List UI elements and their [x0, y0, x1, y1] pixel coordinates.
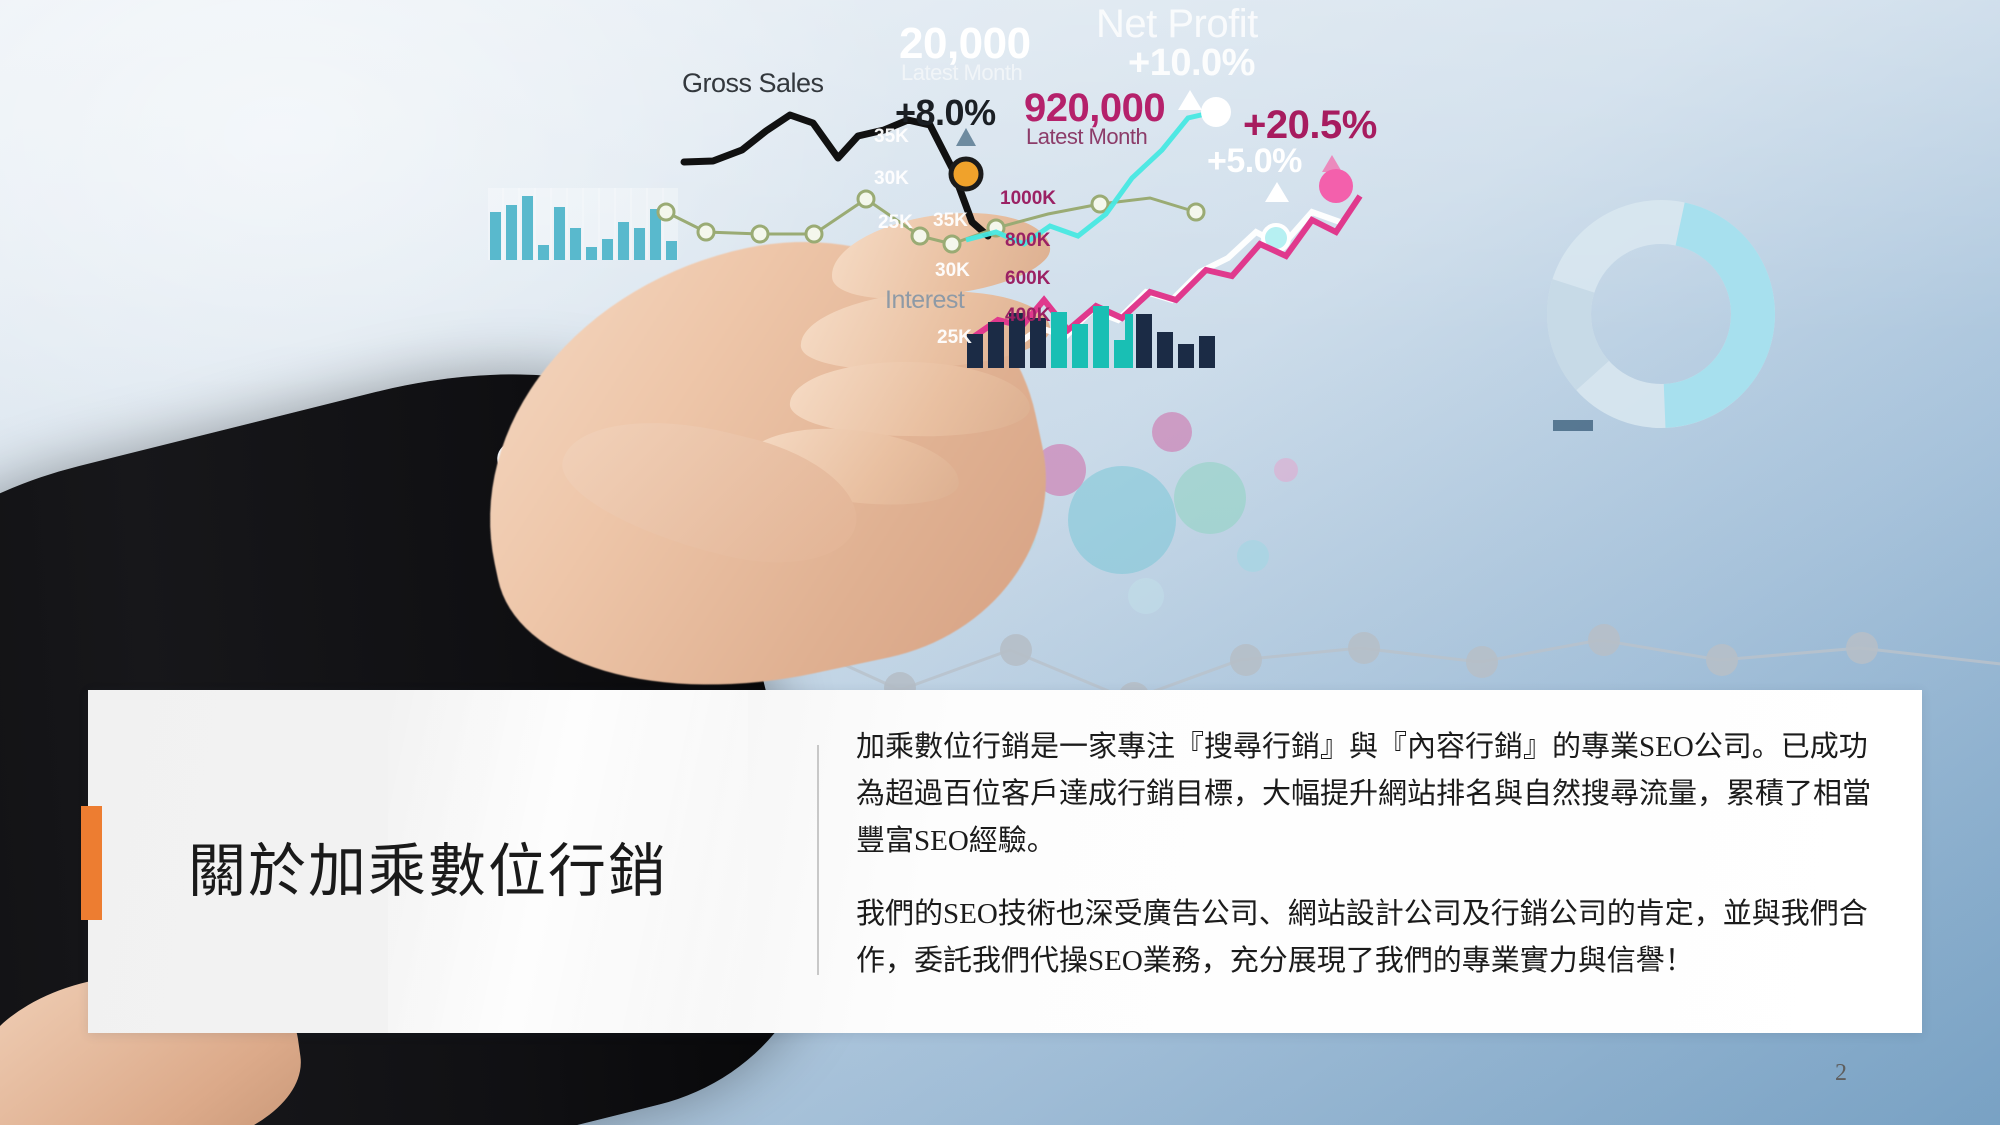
axis-tick-interest-right-2: 25K — [937, 327, 972, 349]
page-number: 2 — [1835, 1060, 1847, 1087]
axis-tick-interest-left-1: 30K — [874, 168, 909, 190]
secondary-change-value: +5.0% — [1207, 144, 1302, 178]
olive-interest-line — [666, 198, 1196, 244]
axis-tick-interest-right-1: 30K — [935, 260, 970, 282]
donut-chart — [1531, 184, 1791, 444]
net-profit-label: Net Profit — [1096, 2, 1258, 47]
page-title: 關於加乘數位行銷 — [188, 839, 768, 906]
gross-sales-change-value: +8.0% — [895, 95, 996, 131]
body-paragraph-1: 加乘數位行銷是一家專注『搜尋行銷』與『內容行銷』的專業SEO公司。已成功為超過百… — [856, 724, 1896, 865]
axis-tick-revenue-2: 600K — [1005, 268, 1050, 290]
axis-tick-interest-left-2: 25K — [878, 212, 913, 234]
body-text: 加乘數位行銷是一家專注『搜尋行銷』與『內容行銷』的專業SEO公司。已成功為超過百… — [856, 724, 1896, 985]
interest-label: Interest — [885, 286, 964, 315]
gross-sales-label: Gross Sales — [682, 68, 824, 99]
body-paragraph-2: 我們的SEO技術也深受廣告公司、網站設計公司及行銷公司的肯定，並與我們合作，委託… — [856, 891, 1896, 985]
axis-tick-interest-right-0: 35K — [933, 210, 968, 232]
slide: Gross Sales Interest Net Profit +10.0% 2… — [0, 0, 2000, 1125]
vertical-divider — [817, 745, 819, 975]
teal-mini-bar-chart — [488, 188, 678, 260]
net-profit-change-value: +10.0% — [1128, 44, 1255, 82]
gross-sales-latest-caption: Latest Month — [901, 62, 1022, 84]
axis-tick-revenue-3: 400K — [1005, 305, 1050, 327]
axis-tick-revenue-1: 800K — [1005, 230, 1050, 252]
cyan-line-end-marker — [1201, 97, 1231, 127]
magenta-line-end-marker — [1319, 169, 1353, 203]
axis-tick-interest-left-0: 35K — [874, 126, 909, 148]
revenue-latest-value: 920,000 — [1024, 88, 1165, 128]
axis-tick-revenue-0: 1000K — [1000, 188, 1056, 210]
growth-change-value: +20.5% — [1243, 105, 1377, 145]
revenue-latest-caption: Latest Month — [1026, 126, 1147, 148]
title-accent-bar — [81, 806, 102, 920]
gross-sales-highlight-marker — [951, 159, 981, 189]
